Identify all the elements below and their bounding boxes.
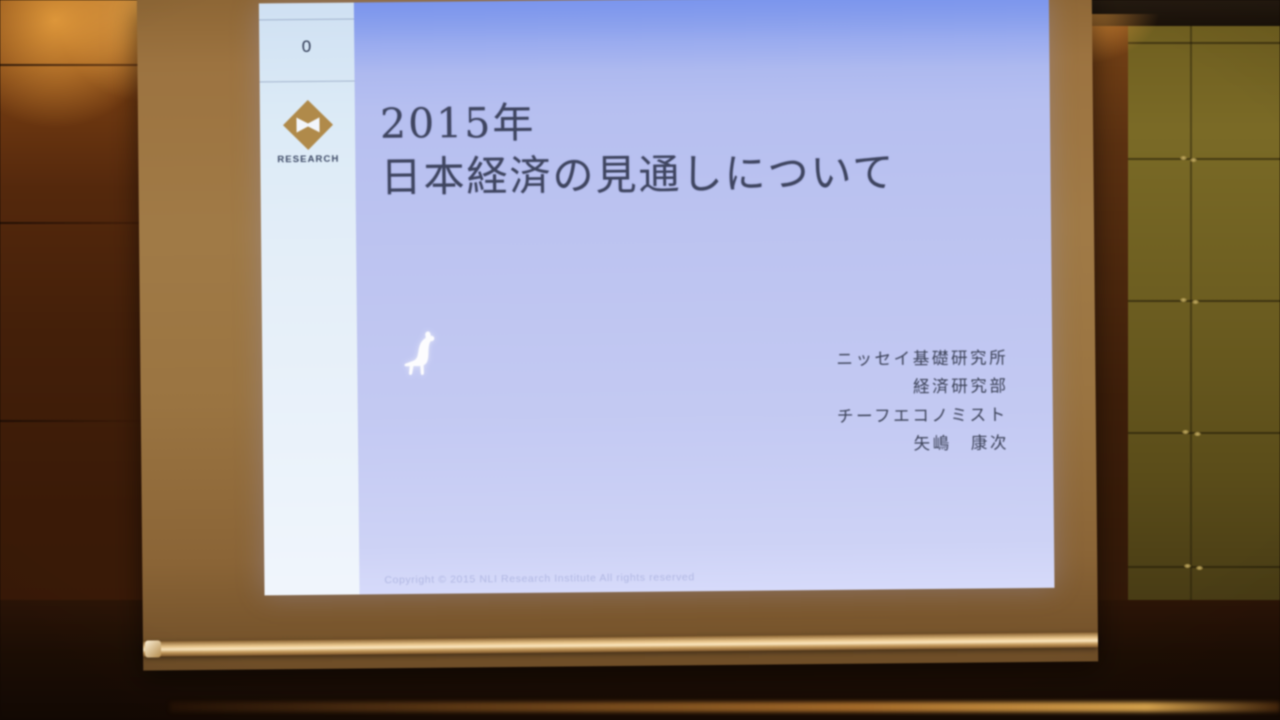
nli-research-logo: RESEARCH	[269, 98, 348, 166]
giraffe-icon	[390, 327, 449, 386]
byline-line-3: チーフエコノミスト	[837, 401, 1009, 431]
slide-sidebar: 0 RESEARCH	[259, 3, 360, 596]
slide-copyright-footer: Copyright © 2015 NLI Research Institute …	[384, 571, 695, 586]
slide-byline: ニッセイ基礎研究所 経済研究部 チーフエコノミスト 矢嶋 康次	[836, 344, 1009, 459]
byline-line-4: 矢嶋 康次	[837, 429, 1009, 459]
projection-screen: 0 RESEARCH 2015年 日本経済の見通しについて ニッセイ基	[137, 0, 1098, 671]
floor-light-strip	[170, 702, 1280, 712]
slide-page-number: 0	[259, 37, 354, 58]
nli-research-diamond-logo-icon	[281, 98, 336, 153]
screen-weight-bar	[143, 632, 1098, 656]
slide-title: 2015年 日本経済の見通しについて	[380, 93, 896, 205]
logo-wordmark: RESEARCH	[269, 154, 347, 166]
presentation-slide: 0 RESEARCH 2015年 日本経済の見通しについて ニッセイ基	[259, 0, 1055, 595]
byline-line-1: ニッセイ基礎研究所	[836, 344, 1008, 374]
screenshot-root: 0 RESEARCH 2015年 日本経済の見通しについて ニッセイ基	[0, 0, 1280, 720]
screen-bar-end-cap	[145, 640, 161, 657]
byline-line-2: 経済研究部	[837, 373, 1009, 403]
